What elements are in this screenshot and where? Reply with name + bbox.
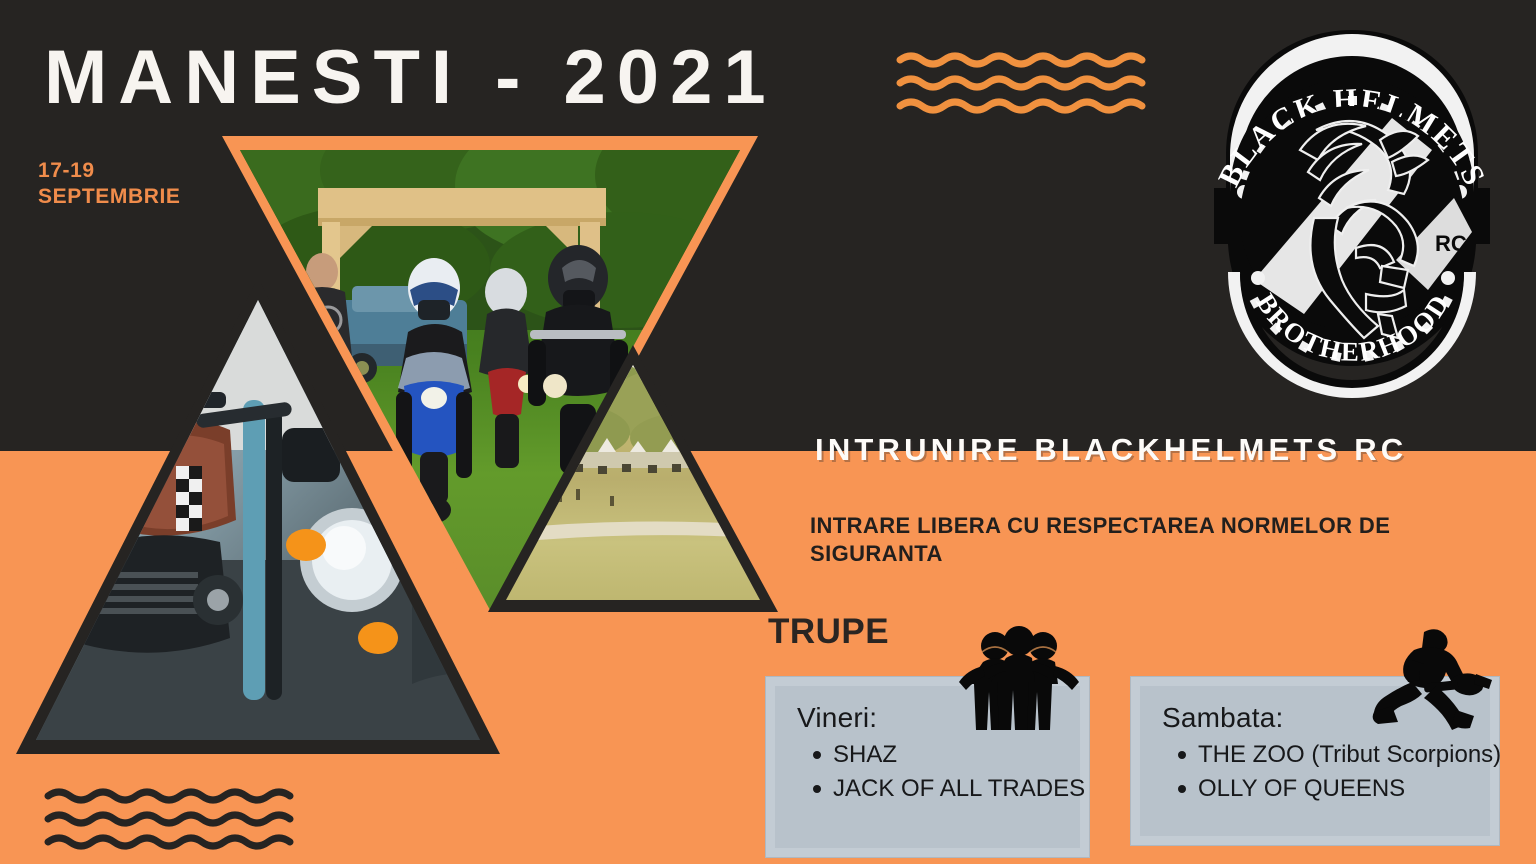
- page-title: MANESTI - 2021: [44, 40, 777, 116]
- poster-canvas: MANESTI - 2021 17-19 SEPTEMBRIE: [0, 0, 1536, 864]
- three-people-icon: [955, 622, 1083, 732]
- list-item: JACK OF ALL TRADES: [811, 772, 1062, 806]
- list-item: THE ZOO (Tribut Scorpions): [1176, 738, 1472, 772]
- club-logo: BLACK HELMETS: [1196, 22, 1508, 412]
- band-list-vineri: SHAZ JACK OF ALL TRADES: [797, 738, 1062, 806]
- list-item: SHAZ: [811, 738, 1062, 772]
- guitarist-icon: [1372, 626, 1494, 732]
- list-item: OLLY OF QUEENS: [1176, 772, 1472, 806]
- event-date-days: 17-19: [38, 158, 181, 184]
- wavy-lines-orange-icon: [896, 52, 1158, 119]
- lineup-heading: TRUPE: [768, 612, 889, 652]
- band-list-sambata: THE ZOO (Tribut Scorpions) OLLY OF QUEEN…: [1162, 738, 1472, 806]
- event-headline: INTRUNIRE BLACKHELMETS RC: [815, 432, 1407, 468]
- event-date-month: SEPTEMBRIE: [38, 184, 181, 210]
- logo-rc-text: RC: [1435, 231, 1467, 256]
- event-date: 17-19 SEPTEMBRIE: [38, 158, 181, 211]
- wavy-lines-dark-icon: [44, 788, 306, 855]
- entry-notice: INTRARE LIBERA CU RESPECTAREA NORMELOR D…: [810, 512, 1500, 567]
